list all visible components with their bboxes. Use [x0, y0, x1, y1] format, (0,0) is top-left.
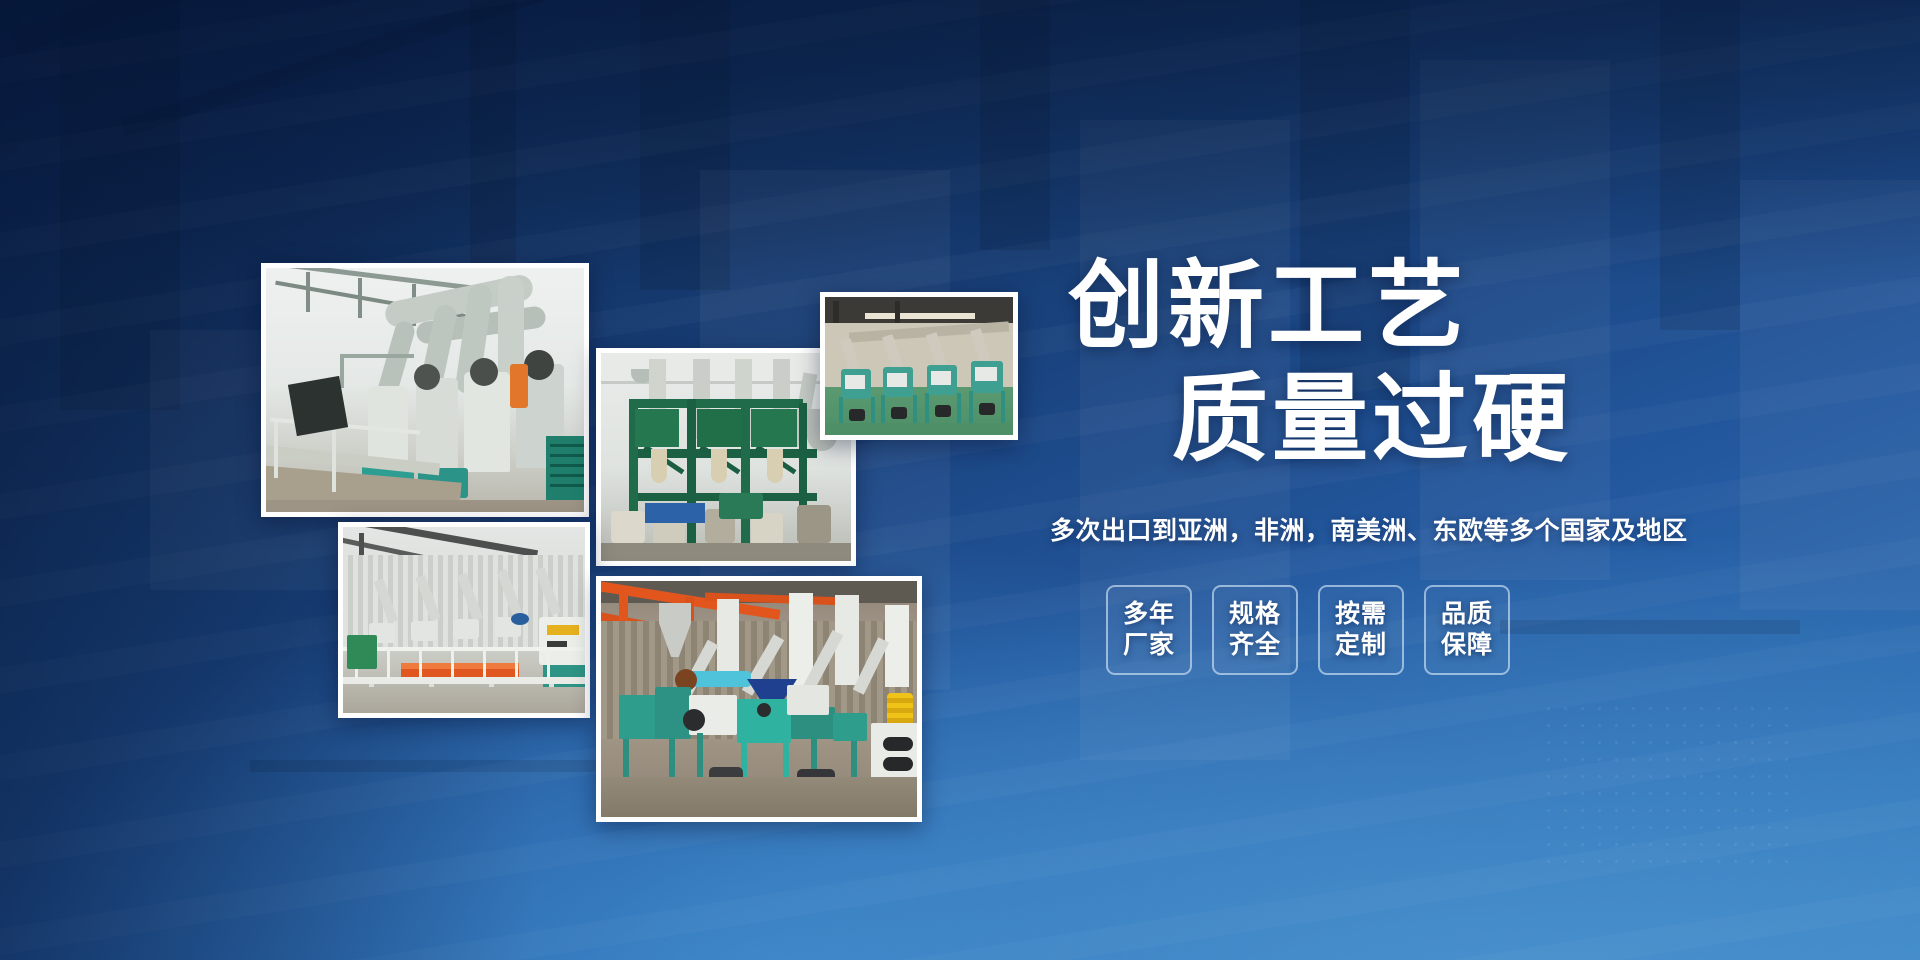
- photo-small-mill-units: [820, 292, 1018, 440]
- feature-badge-list: 多年 厂家 规格 齐全 按需 定制 品质 保障: [1050, 585, 1750, 675]
- badge-text-top: 多年: [1123, 599, 1175, 630]
- promo-banner: 创新工艺 质量过硬 多次出口到亚洲，非洲，南美洲、东欧等多个国家及地区 多年 厂…: [0, 0, 1920, 960]
- photo-rice-mill-production-line: [261, 263, 589, 517]
- badge-text-bottom: 齐全: [1229, 630, 1281, 661]
- feature-badge-custom-made[interactable]: 按需 定制: [1318, 585, 1404, 675]
- photo-teal-milling-machines: [596, 576, 922, 822]
- badge-text-top: 按需: [1335, 599, 1387, 630]
- banner-subtitle: 多次出口到亚洲，非洲，南美洲、东欧等多个国家及地区: [1050, 511, 1750, 547]
- photo-production-line-orange-conveyor: [338, 522, 590, 718]
- banner-copy: 创新工艺 质量过硬 多次出口到亚洲，非洲，南美洲、东欧等多个国家及地区 多年 厂…: [1050, 250, 1750, 675]
- badge-text-top: 规格: [1229, 599, 1281, 630]
- feature-badge-years-factory[interactable]: 多年 厂家: [1106, 585, 1192, 675]
- page-title: 创新工艺 质量过硬: [1050, 250, 1750, 477]
- headline-line-2: 质量过硬: [1050, 363, 1750, 476]
- photo-green-flour-mill: [596, 348, 856, 566]
- badge-text-bottom: 保障: [1441, 630, 1493, 661]
- background-dot-pattern: [1540, 700, 1800, 870]
- badge-text-top: 品质: [1441, 599, 1493, 630]
- photo-collage: [0, 0, 1100, 960]
- badge-text-bottom: 定制: [1335, 630, 1387, 661]
- feature-badge-full-specs[interactable]: 规格 齐全: [1212, 585, 1298, 675]
- feature-badge-quality-guarantee[interactable]: 品质 保障: [1424, 585, 1510, 675]
- headline-line-1: 创新工艺: [1050, 250, 1750, 363]
- badge-text-bottom: 厂家: [1123, 630, 1175, 661]
